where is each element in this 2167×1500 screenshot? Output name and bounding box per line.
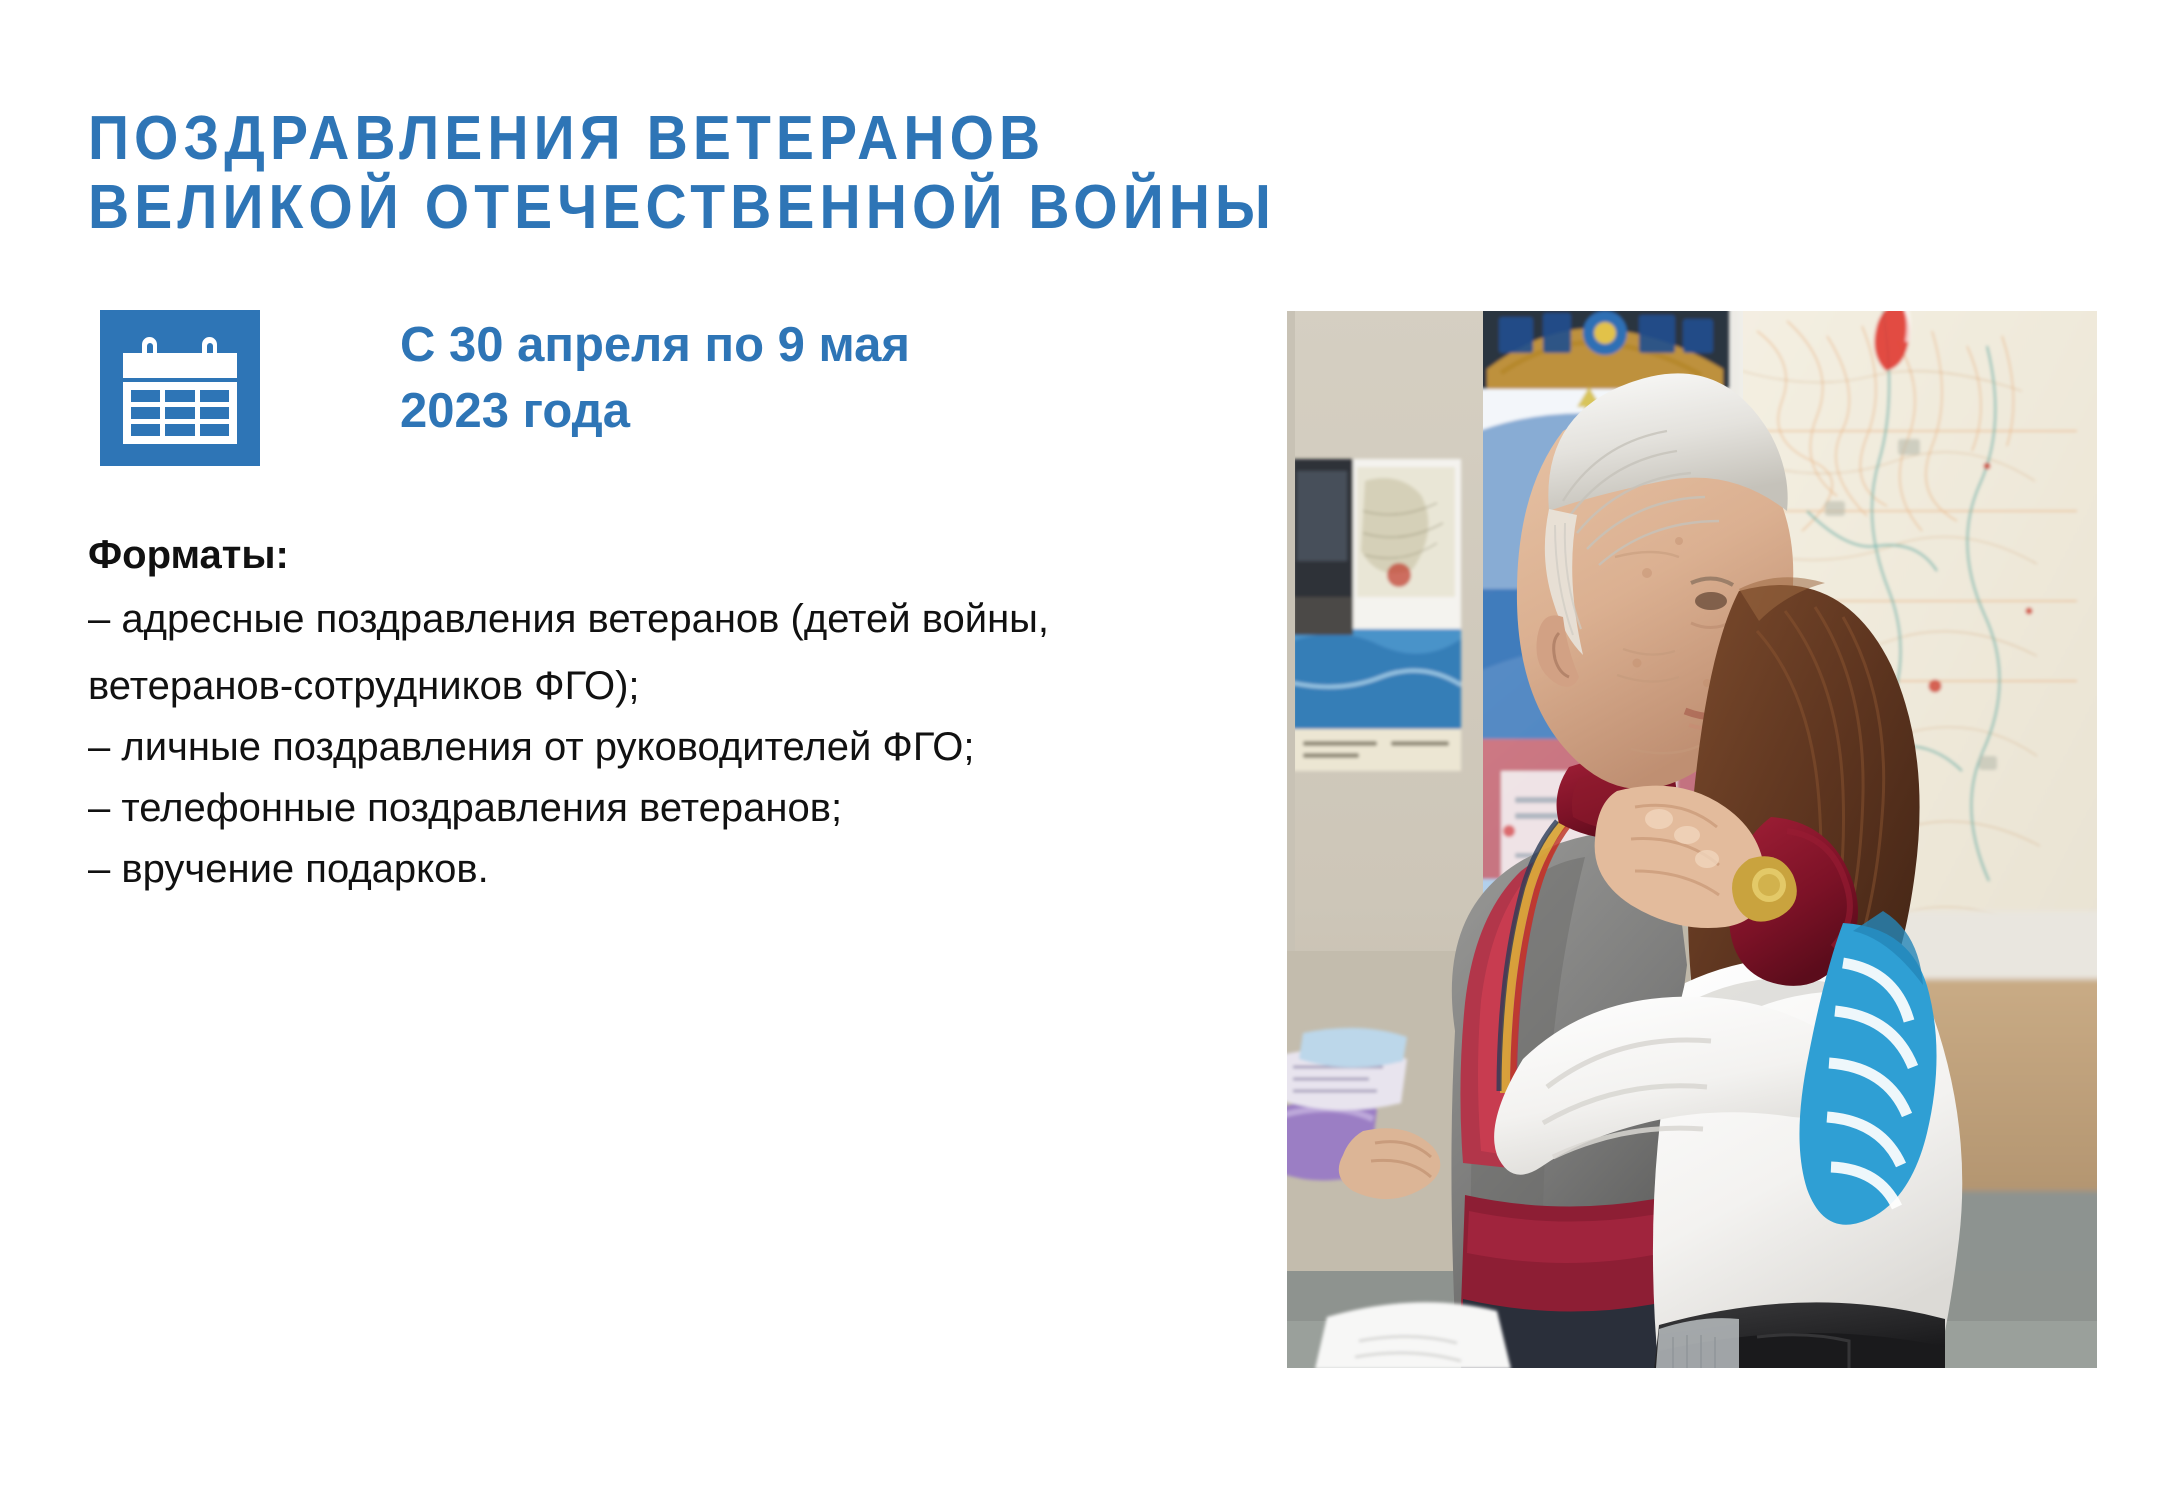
date-range-text: С 30 апреля по 9 мая 2023 года [400, 310, 910, 444]
calendar-cell [200, 390, 229, 402]
page-title-line-1: ПОЗДРАВЛЕНИЯ ВЕТЕРАНОВ [88, 104, 1192, 173]
calendar-cell [131, 424, 160, 436]
formats-item: – личные поздравления от руководителей Ф… [88, 727, 1268, 767]
formats-heading: Форматы: [88, 535, 1268, 575]
calendar-cell [165, 390, 194, 402]
page-title: ПОЗДРАВЛЕНИЯ ВЕТЕРАНОВ ВЕЛИКОЙ ОТЕЧЕСТВЕ… [88, 104, 1192, 243]
calendar-header-bar [123, 353, 237, 378]
calendar-cell [165, 424, 194, 436]
date-block: С 30 апреля по 9 мая 2023 года [100, 310, 910, 466]
photo-illustration [1287, 311, 2097, 1368]
calendar-cell [131, 407, 160, 419]
formats-item: – вручение подарков. [88, 849, 1268, 889]
veteran-hug-photo [1287, 311, 2097, 1368]
calendar-cell [200, 407, 229, 419]
calendar-cell [165, 407, 194, 419]
calendar-icon [100, 310, 260, 466]
formats-item: – телефонные поздравления ветеранов; [88, 788, 1268, 828]
formats-item-continuation: ветеранов-сотрудников ФГО); [88, 666, 1268, 706]
formats-block: Форматы: – адресные поздравления ветеран… [88, 535, 1268, 910]
page-title-line-2: ВЕЛИКОЙ ОТЕЧЕСТВЕННОЙ ВОЙНЫ [88, 173, 1192, 242]
calendar-grid [123, 382, 237, 444]
formats-item: – адресные поздравления ветеранов (детей… [88, 599, 1268, 639]
date-range-line-1: С 30 апреля по 9 мая [400, 312, 910, 378]
calendar-cell [200, 424, 229, 436]
calendar-cell [131, 390, 160, 402]
date-range-line-2: 2023 года [400, 378, 910, 444]
